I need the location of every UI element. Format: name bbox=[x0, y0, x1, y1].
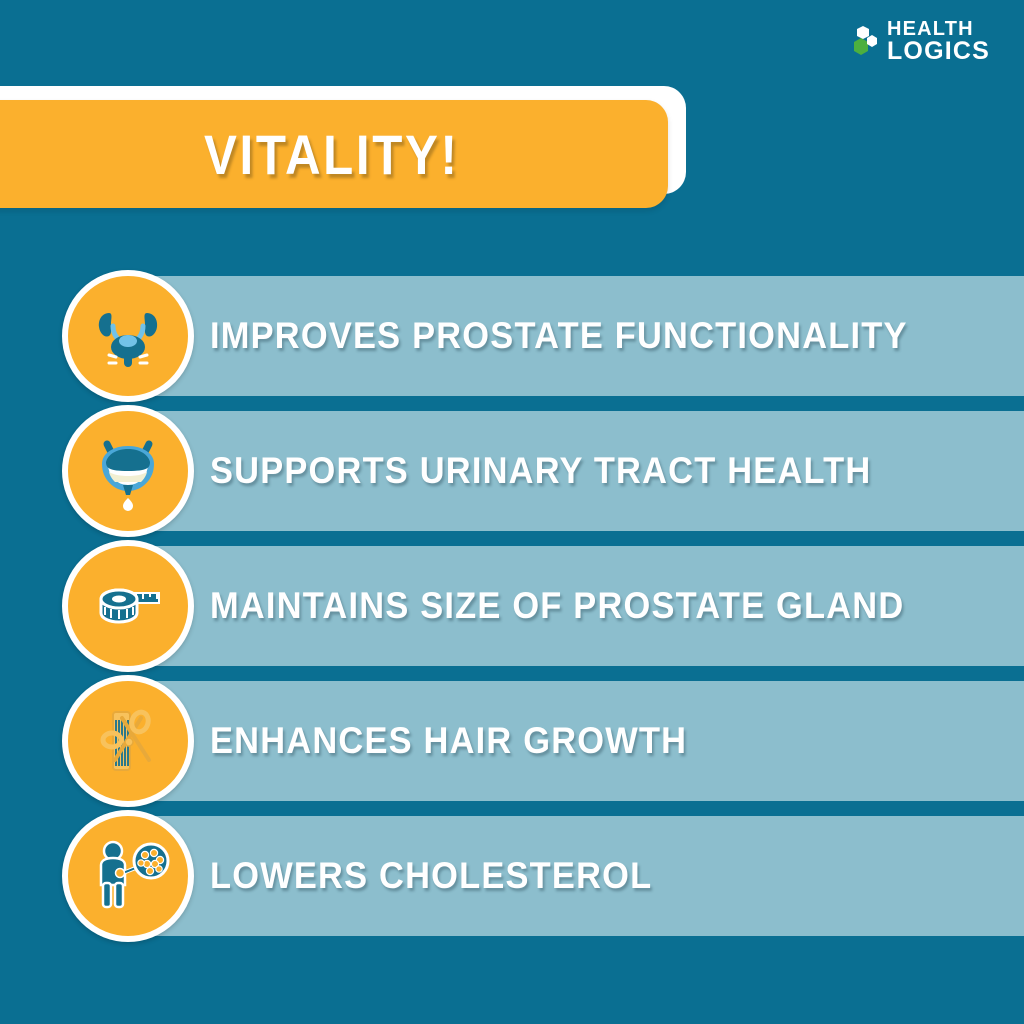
benefit-label: LOWERS CHOLESTEROL bbox=[210, 816, 652, 936]
benefit-row: SUPPORTS URINARY TRACT HEALTH bbox=[0, 411, 1024, 531]
title-banner: VITALITY! bbox=[0, 86, 686, 208]
benefit-label: IMPROVES PROSTATE FUNCTIONALITY bbox=[210, 276, 908, 396]
benefit-label: ENHANCES HAIR GROWTH bbox=[210, 681, 687, 801]
brand-line-2: LOGICS bbox=[887, 39, 990, 63]
infographic-canvas: HEALTH LOGICS VITALITY! bbox=[0, 0, 1024, 1024]
benefit-row: LOWERS CHOLESTEROL bbox=[0, 816, 1024, 936]
person-cholesterol-cells-icon bbox=[62, 810, 194, 942]
kidneys-urinary-system-icon bbox=[62, 270, 194, 402]
page-title: VITALITY! bbox=[169, 122, 460, 187]
benefit-label: SUPPORTS URINARY TRACT HEALTH bbox=[210, 411, 871, 531]
brand-logo: HEALTH LOGICS bbox=[845, 20, 990, 66]
benefit-row: IMPROVES PROSTATE FUNCTIONALITY bbox=[0, 276, 1024, 396]
benefits-list: IMPROVES PROSTATE FUNCTIONALITY SUPPORTS… bbox=[0, 276, 1024, 951]
title-banner-fill: VITALITY! bbox=[0, 100, 668, 208]
bladder-droplet-icon bbox=[62, 405, 194, 537]
hexagon-cluster-logo-icon bbox=[845, 26, 879, 66]
benefit-row: MAINTAINS SIZE OF PROSTATE GLAND bbox=[0, 546, 1024, 666]
brand-wordmark: HEALTH LOGICS bbox=[887, 20, 990, 63]
benefit-label: MAINTAINS SIZE OF PROSTATE GLAND bbox=[210, 546, 904, 666]
comb-and-scissors-icon bbox=[62, 675, 194, 807]
benefit-row: ENHANCES HAIR GROWTH bbox=[0, 681, 1024, 801]
measuring-tape-icon bbox=[62, 540, 194, 672]
